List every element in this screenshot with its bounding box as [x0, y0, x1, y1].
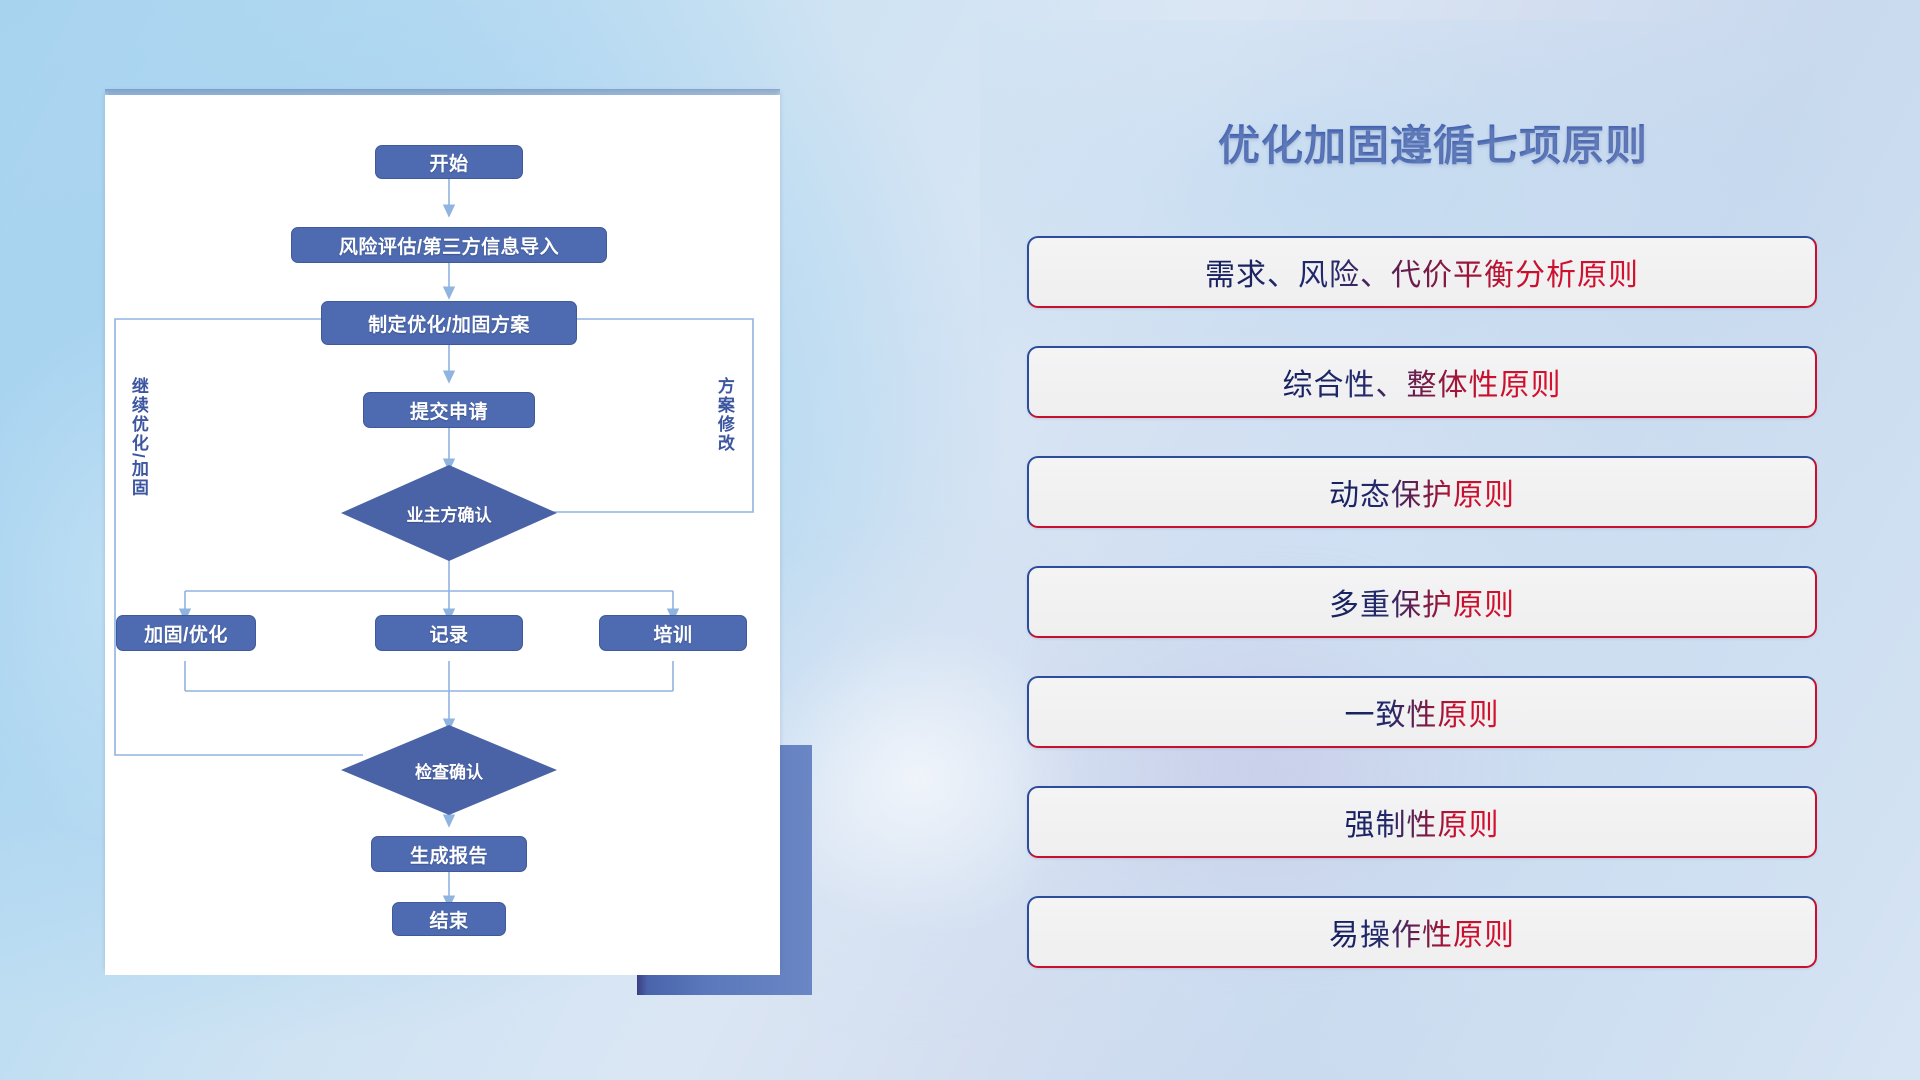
flow-node-record-label: 记录 [429, 620, 468, 647]
principle-card-6[interactable]: 强制性原则 [1027, 786, 1817, 858]
flow-node-check-confirm[interactable]: 检查确认 [341, 725, 557, 815]
principle-card-5[interactable]: 一致性原则 [1027, 676, 1817, 748]
principle-card-7[interactable]: 易操作性原则 [1027, 896, 1817, 968]
principle-card-5-label: 一致性原则 [1345, 690, 1500, 734]
flowchart-nodes: 开始 风险评估/第三方信息导入 制定优化/加固方案 提交申请 业主方确认 加固/… [105, 95, 780, 975]
flow-node-end-label: 结束 [429, 906, 468, 933]
flow-node-risk-assessment-label: 风险评估/第三方信息导入 [339, 232, 559, 259]
flow-node-risk-assessment[interactable]: 风险评估/第三方信息导入 [291, 227, 607, 263]
flow-node-report[interactable]: 生成报告 [371, 836, 527, 872]
principles-panel-title: 优化加固遵循七项原则 [1153, 112, 1713, 173]
principle-card-6-label: 强制性原则 [1345, 800, 1500, 844]
principle-card-7-label: 易操作性原则 [1329, 910, 1515, 954]
flow-node-owner-confirm-label: 业主方确认 [407, 501, 492, 526]
principle-card-3[interactable]: 动态保护原则 [1027, 456, 1817, 528]
flow-node-end[interactable]: 结束 [392, 902, 506, 936]
principle-card-2-label: 综合性、整体性原则 [1283, 360, 1562, 404]
principle-card-1[interactable]: 需求、风险、代价平衡分析原则 [1027, 236, 1817, 308]
principle-card-4[interactable]: 多重保护原则 [1027, 566, 1817, 638]
principle-card-3-label: 动态保护原则 [1329, 470, 1515, 514]
flow-node-plan[interactable]: 制定优化/加固方案 [321, 301, 577, 345]
flowchart-card: 开始 风险评估/第三方信息导入 制定优化/加固方案 提交申请 业主方确认 加固/… [105, 95, 780, 975]
flow-node-training[interactable]: 培训 [599, 615, 747, 651]
principle-card-1-label: 需求、风险、代价平衡分析原则 [1205, 250, 1639, 294]
flow-node-start-label: 开始 [429, 149, 468, 176]
flow-node-reinforce[interactable]: 加固/优化 [116, 615, 256, 651]
principle-card-2[interactable]: 综合性、整体性原则 [1027, 346, 1817, 418]
principle-card-4-label: 多重保护原则 [1329, 580, 1515, 624]
flow-node-record[interactable]: 记录 [375, 615, 523, 651]
flow-node-plan-label: 制定优化/加固方案 [368, 310, 530, 337]
flow-edge-label-right-loop: 方案修改 [715, 377, 733, 507]
principles-card-list: 需求、风险、代价平衡分析原则 综合性、整体性原则 动态保护原则 多重保护原则 一… [1027, 236, 1817, 1006]
flow-node-owner-confirm[interactable]: 业主方确认 [341, 465, 557, 561]
flow-node-submit-label: 提交申请 [410, 397, 488, 424]
flow-node-reinforce-label: 加固/优化 [144, 620, 228, 647]
flow-node-training-label: 培训 [653, 620, 692, 647]
flow-edge-label-left-loop: 继续优化/加固 [129, 377, 147, 557]
flow-node-submit[interactable]: 提交申请 [363, 392, 535, 428]
flow-node-start[interactable]: 开始 [375, 145, 523, 179]
flow-node-check-confirm-label: 检查确认 [415, 758, 483, 783]
flow-node-report-label: 生成报告 [410, 841, 488, 868]
